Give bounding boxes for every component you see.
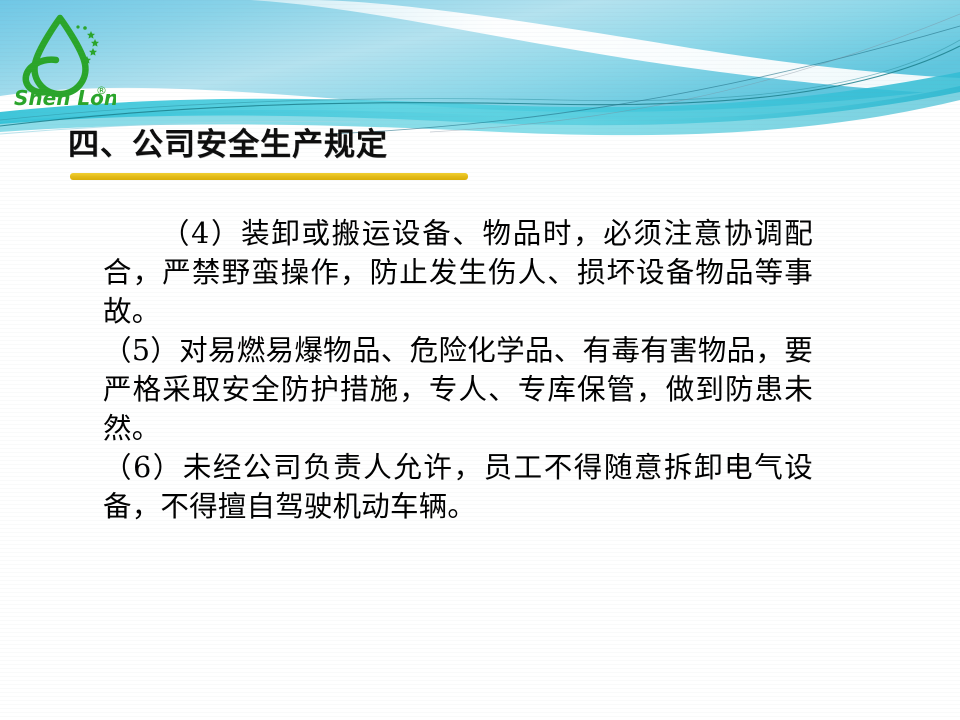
page-title: 四、公司安全生产规定	[68, 126, 468, 164]
body-paragraph-4: （4）装卸或搬运设备、物品时，必须注意协调配合，严禁野蛮操作，防止发生伤人、损坏…	[103, 214, 813, 331]
slide-body-text: （4）装卸或搬运设备、物品时，必须注意协调配合，严禁野蛮操作，防止发生伤人、损坏…	[103, 214, 813, 526]
title-block: 四、公司安全生产规定	[68, 126, 468, 180]
logo-trademark-icon: ®	[96, 84, 107, 97]
header-decoration-banner	[0, 0, 960, 140]
company-logo: Shen Long ®	[8, 6, 116, 110]
body-paragraph-6: （6）未经公司负责人允许，员工不得随意拆卸电气设备，不得擅自驾驶机动车辆。	[103, 448, 813, 526]
body-paragraph-5: （5）对易燃易爆物品、危险化学品、有毒有害物品，要严格采取安全防护措施，专人、专…	[103, 331, 813, 448]
title-underline-rule	[70, 173, 468, 180]
presentation-slide: Shen Long ® 四、公司安全生产规定 （4）装卸或搬运设备、物品时，必须…	[0, 0, 960, 720]
droplet-leaf-mark	[26, 18, 86, 94]
